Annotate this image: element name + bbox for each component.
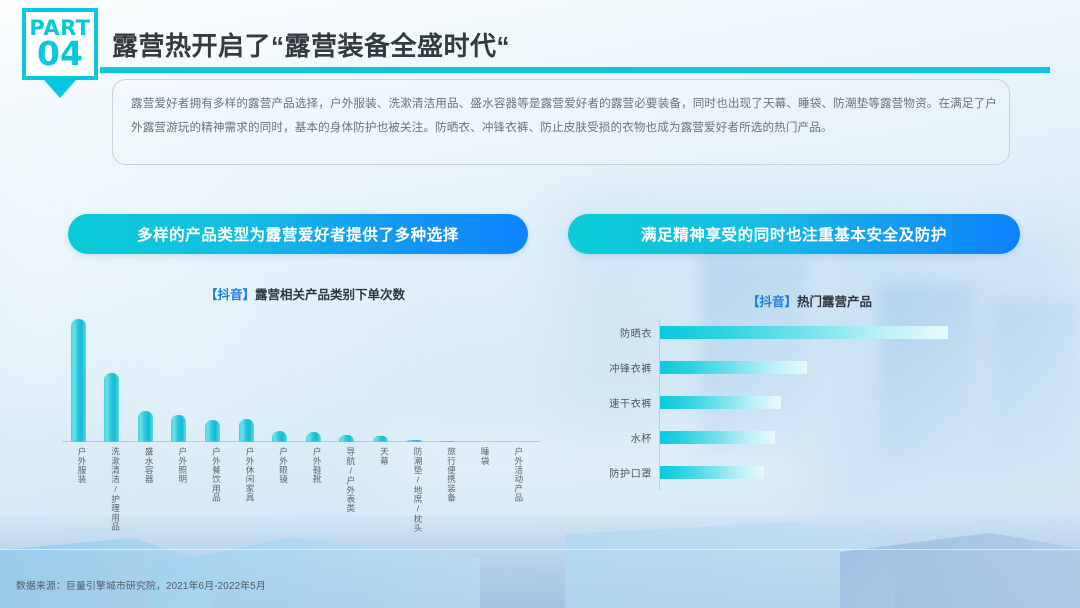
bar-category-label: 户外活动产品 (507, 447, 523, 502)
bar-category-label: 防护口罩 (600, 464, 652, 481)
right-chart-title: 【抖音】热门露营产品 (747, 291, 872, 310)
bar-column (507, 319, 523, 442)
bar (660, 431, 775, 444)
bar-category-label: 户外鞋靴 (305, 447, 321, 484)
bar-column (372, 319, 388, 442)
bar-column (339, 319, 355, 442)
page-title: 露营热开启了“露营装备全盛时代“ (112, 26, 510, 63)
bar-category-label: 盛水容器 (137, 447, 153, 484)
bar-column (104, 319, 120, 442)
section-pill-left[interactable]: 多样的产品类型为露营爱好者提供了多种选择 (68, 214, 528, 254)
bar-row: 速干衣裤 (600, 394, 1020, 411)
bar-category-label: 洗漱清洁/护理用品 (104, 447, 120, 531)
section-pill-right[interactable]: 满足精神享受的同时也注重基本安全及防护 (568, 214, 1020, 254)
bar-category-label: 天幕 (372, 447, 388, 465)
left-chart-title: 【抖音】露营相关产品类别下单次数 (205, 284, 405, 303)
left-chart-title-text: 露营相关产品类别下单次数 (255, 288, 405, 302)
left-bar-chart (62, 318, 540, 442)
bar-row: 防护口罩 (600, 464, 1020, 481)
right-chart-title-tag: 【抖音】 (747, 295, 797, 309)
bar-category-label: 防晒衣 (600, 324, 652, 341)
badge-pointer-triangle-icon (44, 80, 76, 98)
bar-row: 冲锋衣裤 (600, 359, 1020, 376)
bar-column (70, 319, 86, 442)
data-source-footer: 数据来源：巨量引擎城市研究院，2021年6月-2022年5月 (16, 578, 266, 592)
bar-column (238, 319, 254, 442)
bar (660, 396, 781, 409)
bar (660, 361, 807, 374)
bar (205, 420, 220, 442)
part-badge: PART 04 (22, 8, 98, 80)
left-chart-title-tag: 【抖音】 (205, 288, 255, 302)
bar-category-label: 防潮垫/地席/枕头 (406, 447, 422, 533)
bar-row: 防晒衣 (600, 324, 1020, 341)
bar (660, 326, 948, 339)
bar-column (305, 319, 321, 442)
right-chart-title-text: 热门露营产品 (797, 295, 872, 309)
bar-category-label: 户外眼镜 (272, 447, 288, 484)
bar-column (473, 319, 489, 442)
bar (104, 373, 119, 442)
bar-category-label: 冲锋衣裤 (600, 359, 652, 376)
right-bar-chart: 防晒衣冲锋衣裤速干衣裤水杯防护口罩 (600, 320, 1020, 488)
bar-category-label: 户外休闲家具 (238, 447, 254, 502)
bar-column (171, 319, 187, 442)
bar-row: 水杯 (600, 429, 1020, 446)
title-underline-rule (100, 67, 1050, 73)
bar-column (440, 319, 456, 442)
bar-column (272, 319, 288, 442)
bar (138, 411, 153, 442)
intro-box: 露营爱好者拥有多样的露营产品选择，户外服装、洗漱清洁用品、盛水容器等是露营爱好者… (112, 79, 1010, 165)
bar-category-label: 户外服装 (70, 447, 86, 484)
bar (171, 415, 186, 442)
bar-category-label: 户外餐饮用品 (204, 447, 220, 502)
left-chart-baseline-axis (62, 441, 540, 442)
bar-category-label: 旅行便携装备 (440, 447, 456, 502)
bar-column (137, 319, 153, 442)
bar-category-label: 睡袋 (473, 447, 489, 465)
bar (660, 466, 764, 479)
bar (71, 319, 86, 442)
band-divider (0, 549, 1080, 550)
part-number: 04 (37, 37, 83, 70)
bottom-geometric-band (0, 516, 1080, 608)
bar-column (406, 319, 422, 442)
bar-category-label: 水杯 (600, 429, 652, 446)
intro-paragraph: 露营爱好者拥有多样的露营产品选择，户外服装、洗漱清洁用品、盛水容器等是露营爱好者… (131, 92, 997, 140)
bar (239, 419, 254, 442)
slide-root: 助力 PART 04 露营热开启了“露营装备全盛时代“ 露营爱好者拥有多样的露营… (0, 0, 1080, 608)
bar-category-label: 速干衣裤 (600, 394, 652, 411)
bar-column (204, 319, 220, 442)
bar-category-label: 户外照明 (171, 447, 187, 484)
bar-category-label: 导航/户外表类 (339, 447, 355, 513)
